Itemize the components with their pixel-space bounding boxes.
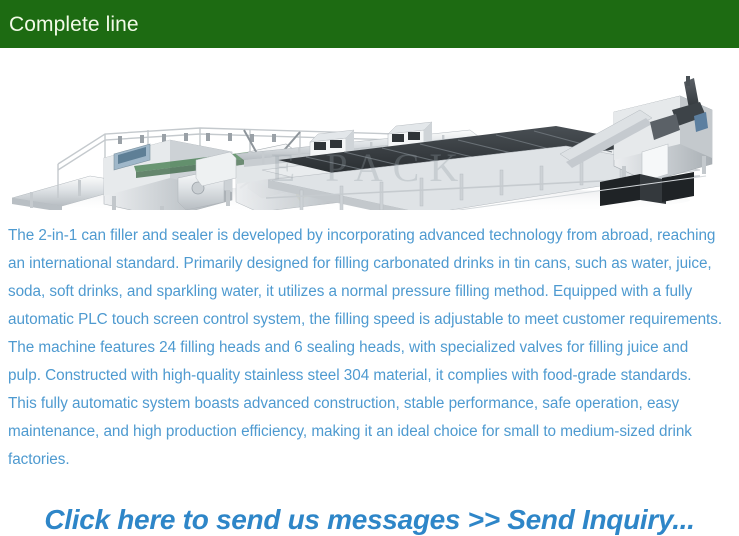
page-title: Complete line (9, 14, 139, 35)
canning-line-illustration (0, 48, 739, 210)
send-inquiry-link[interactable]: Click here to send us messages >> Send I… (44, 504, 694, 536)
product-description: The 2-in-1 can filler and sealer is deve… (0, 210, 730, 474)
section-header-bar: Complete line (0, 0, 739, 48)
product-image: E PACK (0, 48, 739, 210)
cta-container: Click here to send us messages >> Send I… (0, 474, 739, 536)
